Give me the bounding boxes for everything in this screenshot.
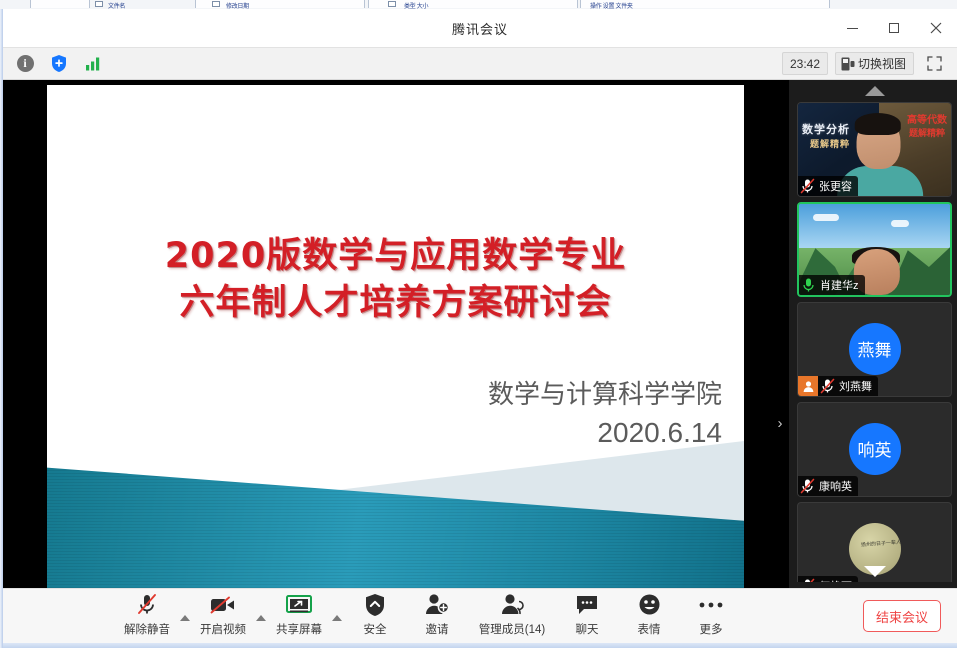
meeting-timer: 23:42	[782, 52, 828, 75]
chat-button[interactable]: 聊天	[556, 592, 618, 641]
invite-person-icon	[424, 592, 450, 618]
host-badge	[798, 376, 818, 396]
unmute-label: 解除静音	[124, 621, 170, 637]
scroll-down-button[interactable]	[789, 560, 957, 582]
triangle-up-icon	[865, 86, 885, 96]
switch-view-icon	[841, 57, 855, 71]
participant-namebar: 康响英	[798, 476, 858, 496]
unmute-button[interactable]: 解除静音	[116, 592, 178, 641]
info-icon: i	[17, 55, 34, 72]
meeting-toolbar: 解除静音 开启视频	[3, 588, 957, 643]
video-text-r2: 题解精粹	[909, 126, 945, 139]
network-quality-button[interactable]	[80, 51, 106, 77]
meeting-info-button[interactable]: i	[12, 51, 38, 77]
mic-muted-icon	[798, 176, 817, 196]
mic-muted-icon	[818, 376, 837, 396]
share-screen-label: 共享屏幕	[276, 621, 322, 637]
participant-namebar: 张更容	[798, 176, 858, 196]
window-title: 腾讯会议	[452, 19, 508, 38]
start-video-button[interactable]: 开启视频	[192, 592, 254, 641]
slide-title: 2020版数学与应用数学专业 六年制人才培养方案研讨会	[47, 233, 744, 327]
slide-title-line2: 六年制人才培养方案研讨会	[47, 280, 744, 327]
title-bar: 腾讯会议	[3, 9, 957, 47]
close-icon	[930, 22, 942, 34]
emoji-icon	[638, 592, 661, 618]
more-dots-icon	[698, 592, 724, 618]
slide-org: 数学与计算科学学院	[62, 376, 722, 414]
mic-muted-icon	[798, 476, 817, 496]
shared-screen-stage: 2020版数学与应用数学专业 六年制人才培养方案研讨会 数学与计算科学学院 20…	[3, 80, 957, 588]
switch-view-label: 切换视图	[858, 55, 906, 72]
participant-namebar: 肖建华z	[799, 275, 865, 295]
participant-tile[interactable]: 数学分析 题解精粹 高等代数 题解精粹	[797, 102, 952, 197]
invite-button[interactable]: 邀请	[406, 592, 468, 641]
avatar: 响英	[849, 422, 901, 474]
desktop-background: 文件名 修改日期 类型 大小 操作 设置 文件夹	[0, 0, 957, 9]
shield-plus-icon	[50, 54, 68, 73]
emoji-label: 表情	[638, 621, 661, 637]
end-meeting-button[interactable]: 结束会议	[863, 600, 941, 632]
avatar-photo-note: 扬州的日子一辈人	[860, 539, 900, 548]
invite-label: 邀请	[426, 621, 449, 637]
maximize-button[interactable]	[873, 9, 915, 47]
meeting-info-bar: i 23:42	[3, 47, 957, 80]
chat-label: 聊天	[576, 621, 599, 637]
camera-off-icon	[209, 592, 237, 618]
chat-bubble-icon	[575, 592, 599, 618]
participant-tiles: 数学分析 题解精粹 高等代数 题解精粹	[789, 102, 957, 582]
avatar: 燕舞	[849, 322, 901, 374]
presentation-slide: 2020版数学与应用数学专业 六年制人才培养方案研讨会 数学与计算科学学院 20…	[47, 85, 744, 588]
video-text-l2: 题解精粹	[810, 137, 850, 150]
host-person-icon	[802, 380, 815, 393]
participant-tile[interactable]: 响英 康响英	[797, 402, 952, 497]
fullscreen-button[interactable]	[921, 52, 947, 76]
participant-tile[interactable]: 燕舞	[797, 302, 952, 397]
window-bottom-edge	[3, 643, 957, 648]
close-button[interactable]	[915, 9, 957, 47]
slide-date: 2020.6.14	[62, 414, 722, 452]
share-screen-button[interactable]: 共享屏幕	[268, 592, 330, 641]
mic-active-icon	[799, 275, 818, 295]
participant-name: 肖建华z	[818, 277, 859, 293]
share-options-caret[interactable]	[330, 615, 344, 641]
window-controls	[831, 9, 957, 47]
collapse-panel-button[interactable]: ›	[771, 409, 789, 437]
participant-tile[interactable]: 肖建华z	[797, 202, 952, 297]
start-video-label: 开启视频	[200, 621, 246, 637]
scroll-up-button[interactable]	[789, 80, 957, 102]
security-button[interactable]: 安全	[344, 592, 406, 641]
mic-muted-icon	[135, 592, 159, 618]
participants-panel: 数学分析 题解精粹 高等代数 题解精粹	[789, 80, 957, 588]
manage-members-button[interactable]: 管理成员(14)	[468, 592, 556, 641]
participant-namebar: 刘燕舞	[798, 376, 878, 396]
app-root: 文件名 修改日期 类型 大小 操作 设置 文件夹 腾讯会议 i	[0, 0, 957, 648]
shield-icon	[364, 592, 386, 618]
participant-name: 康响英	[817, 478, 852, 494]
triangle-down-icon	[864, 566, 886, 577]
manage-members-label: 管理成员(14)	[479, 621, 545, 637]
video-text-l1: 数学分析	[802, 121, 850, 137]
more-label: 更多	[700, 621, 723, 637]
slide-subtitle: 数学与计算科学学院 2020.6.14	[62, 376, 722, 452]
share-screen-icon	[286, 592, 312, 618]
signal-bars-icon	[85, 56, 102, 71]
minimize-button[interactable]	[831, 9, 873, 47]
video-options-caret[interactable]	[254, 615, 268, 641]
switch-view-button[interactable]: 切换视图	[835, 52, 914, 75]
more-button[interactable]: 更多	[680, 592, 742, 641]
emoji-button[interactable]: 表情	[618, 592, 680, 641]
participant-name: 张更容	[817, 178, 852, 194]
manage-members-icon	[499, 592, 525, 618]
security-label: 安全	[364, 621, 387, 637]
security-shield-button[interactable]	[46, 51, 72, 77]
participant-name: 刘燕舞	[837, 378, 872, 394]
fullscreen-icon	[927, 56, 942, 71]
slide-title-line1: 2020版数学与应用数学专业	[47, 233, 744, 280]
audio-options-caret[interactable]	[178, 615, 192, 641]
video-text-r1: 高等代数	[907, 111, 947, 126]
